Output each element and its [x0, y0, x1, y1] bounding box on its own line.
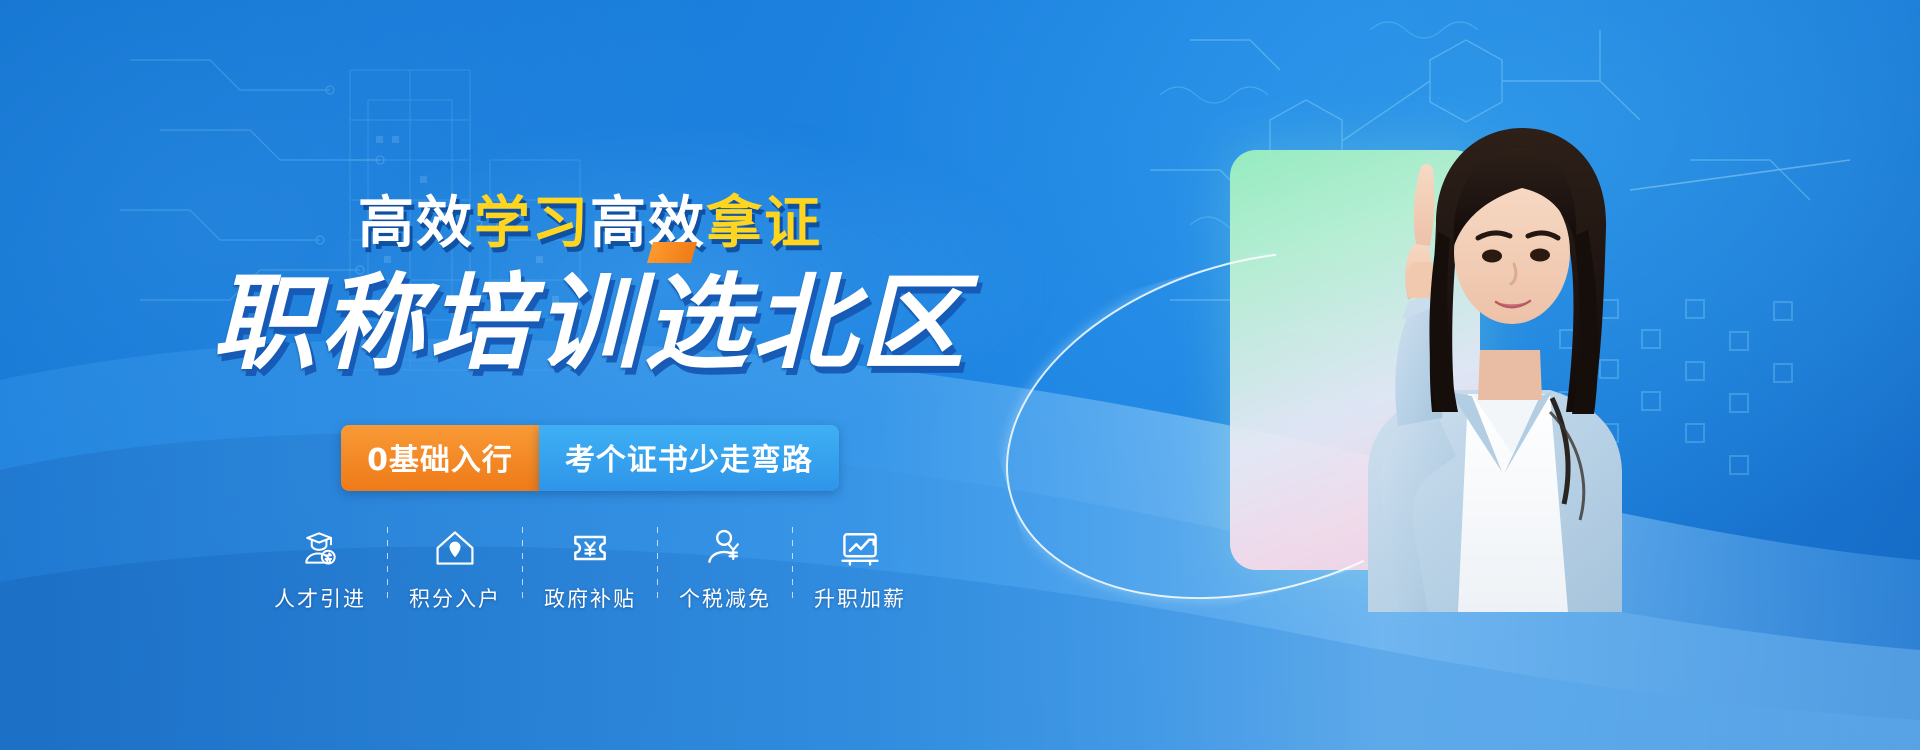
feature-item-promotion[interactable]: 升职加薪 [793, 525, 927, 613]
hero-figure [1170, 130, 1650, 600]
feature-label: 积分入户 [409, 583, 501, 613]
ticket-yuan-icon [567, 525, 613, 571]
main-headline-part-2-accent: 选 [644, 238, 752, 389]
banner-content: 高效学习高效拿证 职称培训选北区 0基础入行 考个证书少走弯路 [0, 0, 1180, 750]
chart-monitor-icon [837, 525, 883, 571]
house-pin-icon [432, 525, 478, 571]
feature-list: 人才引进 积分入户 [0, 525, 1180, 613]
promo-banner: 2.29 [0, 0, 1920, 750]
tagline-pills: 0基础入行 考个证书少走弯路 [0, 425, 1180, 491]
person-yuan-icon [702, 525, 748, 571]
pointing-woman-photo [1250, 112, 1690, 612]
feature-label: 个税减免 [679, 583, 771, 613]
tagline-pill-blue: 考个证书少走弯路 [539, 425, 839, 491]
feature-label: 政府补贴 [544, 583, 636, 613]
feature-label: 人才引进 [274, 583, 366, 613]
main-headline-part-1: 职称培训 [212, 238, 644, 389]
main-headline: 职称培训选北区 [0, 238, 1180, 389]
graduate-person-icon [297, 525, 343, 571]
feature-label: 升职加薪 [814, 583, 906, 613]
feature-item-residency[interactable]: 积分入户 [388, 525, 522, 613]
main-headline-part-3: 北区 [752, 238, 968, 389]
feature-item-talent[interactable]: 人才引进 [253, 525, 387, 613]
feature-item-subsidy[interactable]: 政府补贴 [523, 525, 657, 613]
tagline-pill-orange: 0基础入行 [341, 425, 539, 491]
feature-item-tax[interactable]: 个税减免 [658, 525, 792, 613]
